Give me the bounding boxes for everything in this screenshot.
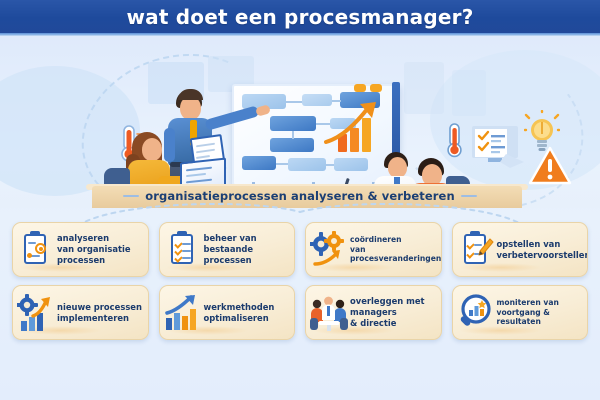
hero-illustration bbox=[0, 36, 600, 208]
meeting-people-icon bbox=[310, 294, 346, 332]
card-optimaliseren[interactable]: werkmethoden optimaliseren bbox=[159, 285, 296, 340]
card-label: coördineren van procesveranderingen bbox=[350, 235, 441, 264]
card-label: nieuwe processen implementeren bbox=[57, 302, 142, 324]
flow-tag-orange-1 bbox=[354, 84, 366, 92]
task-card-grid: analyseren van organisatie processen beh… bbox=[12, 222, 588, 340]
infographic-page: wat doet een procesmanager? bbox=[0, 0, 600, 400]
card-overleggen[interactable]: overleggen met managers & directie bbox=[305, 285, 442, 340]
background-panel-4 bbox=[452, 70, 486, 116]
flow-box-8 bbox=[288, 158, 326, 171]
card-implementeren[interactable]: nieuwe processen implementeren bbox=[12, 285, 149, 340]
whiteboard bbox=[232, 84, 400, 186]
clipboard-analysis-icon bbox=[17, 231, 53, 269]
presenter-left-arm bbox=[164, 128, 175, 162]
board-growth-arrow bbox=[324, 96, 390, 146]
card-label: opstellen van verbetervoorstellen bbox=[497, 239, 589, 261]
thermometer-icon-right bbox=[444, 122, 466, 164]
card-label: moniteren van voortgang & resultaten bbox=[497, 298, 583, 327]
card-analyseren[interactable]: analyseren van organisatie processen bbox=[12, 222, 149, 277]
flow-connector-4 bbox=[276, 163, 288, 165]
flow-box-4 bbox=[270, 116, 316, 131]
background-panel-3 bbox=[404, 62, 444, 114]
card-label: overleggen met managers & directie bbox=[350, 296, 425, 328]
caption-dash-right bbox=[461, 195, 477, 197]
seated-white-head bbox=[388, 157, 407, 178]
card-monitoren[interactable]: moniteren van voortgang & resultaten bbox=[452, 285, 589, 340]
flow-connector-1 bbox=[286, 101, 302, 103]
header-bar: wat doet een procesmanager? bbox=[0, 0, 600, 33]
flow-tag-orange-2 bbox=[370, 84, 382, 92]
card-beheer[interactable]: beheer van bestaande processen bbox=[159, 222, 296, 277]
flow-box-7 bbox=[242, 156, 276, 170]
gears-arrow-icon bbox=[310, 231, 346, 269]
caption-dash-left bbox=[123, 195, 139, 197]
flow-box-9 bbox=[334, 158, 368, 171]
card-coordineren[interactable]: coördineren van procesveranderingen bbox=[305, 222, 442, 277]
flow-box-6 bbox=[270, 138, 314, 152]
woman-head bbox=[142, 138, 162, 161]
magnifier-chart-icon bbox=[457, 294, 493, 332]
card-opstellen[interactable]: opstellen van verbetervoorstellen bbox=[452, 222, 589, 277]
page-title: wat doet een procesmanager? bbox=[126, 5, 473, 29]
card-label: werkmethoden optimaliseren bbox=[204, 302, 275, 324]
warning-triangle-icon bbox=[528, 146, 572, 190]
clipboard-pencil-icon bbox=[457, 231, 493, 269]
flow-connector-5 bbox=[326, 164, 334, 166]
clipboard-checklist-icon bbox=[164, 231, 200, 269]
flow-connector-vert bbox=[292, 131, 294, 139]
bar-chart-arrow-icon bbox=[164, 294, 200, 332]
monitor-checklist-icon bbox=[470, 124, 526, 176]
card-label: beheer van bestaande processen bbox=[204, 233, 290, 265]
card-label: analyseren van organisatie processen bbox=[57, 233, 131, 265]
gear-growth-icon bbox=[17, 294, 53, 332]
